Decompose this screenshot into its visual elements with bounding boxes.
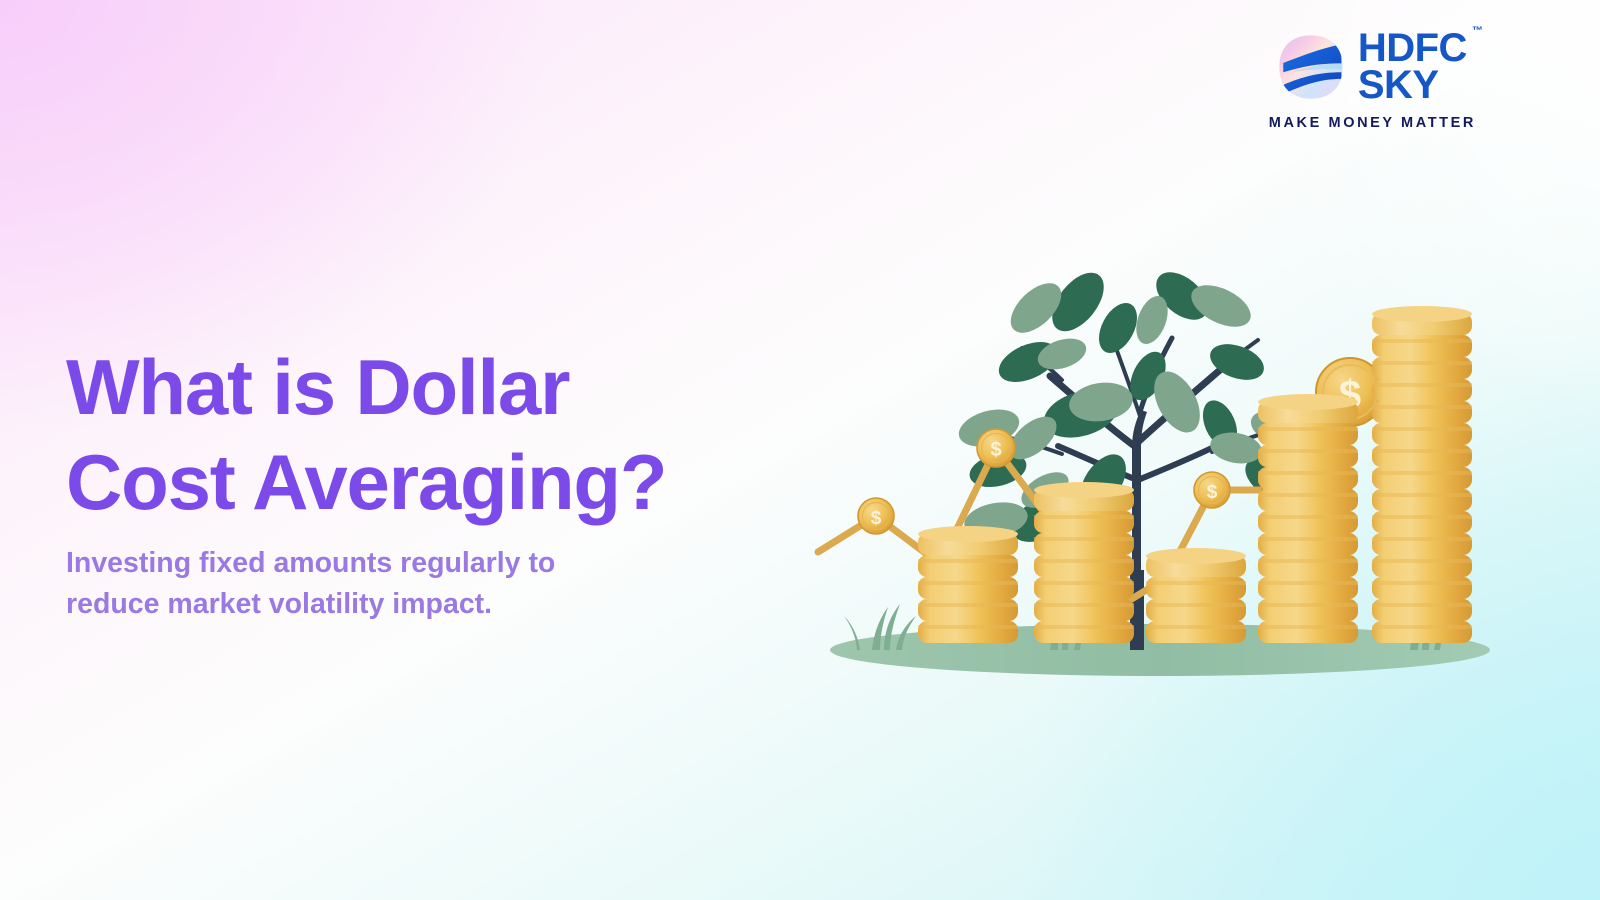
coin-stack-1 [918, 526, 1018, 643]
logo-row: HDFC SKY ™ [1278, 30, 1467, 104]
svg-text:$: $ [990, 439, 1001, 461]
page-subtitle: Investing fixed amounts regularly to red… [66, 543, 706, 625]
coin-stack-2 [1034, 482, 1134, 643]
chart-marker-coin: $ [858, 498, 894, 534]
logo-word-hdfc: HDFC [1358, 30, 1467, 67]
poster-canvas: HDFC SKY ™ MAKE MONEY MATTER What is Dol… [0, 0, 1600, 900]
brand-logo[interactable]: HDFC SKY ™ MAKE MONEY MATTER [1269, 30, 1476, 131]
money-tree-growth-illustration: $ $ $ $ [800, 180, 1520, 700]
hdfc-sky-swoosh-icon [1278, 34, 1344, 100]
chart-marker-coin: $ [977, 429, 1015, 467]
coin-stack-5 [1372, 306, 1472, 643]
chart-marker-coin: $ [1194, 472, 1230, 508]
logo-word-sky: SKY [1358, 67, 1467, 104]
coin-stack-4 [1258, 394, 1358, 643]
page-title: What is Dollar Cost Averaging? [66, 340, 846, 530]
svg-text:$: $ [871, 508, 882, 529]
logo-wordmark: HDFC SKY ™ [1358, 30, 1467, 104]
svg-text:$: $ [1207, 482, 1218, 503]
coin-stack-3 [1146, 548, 1246, 643]
brand-tagline: MAKE MONEY MATTER [1269, 115, 1476, 131]
trademark-icon: ™ [1472, 26, 1483, 36]
